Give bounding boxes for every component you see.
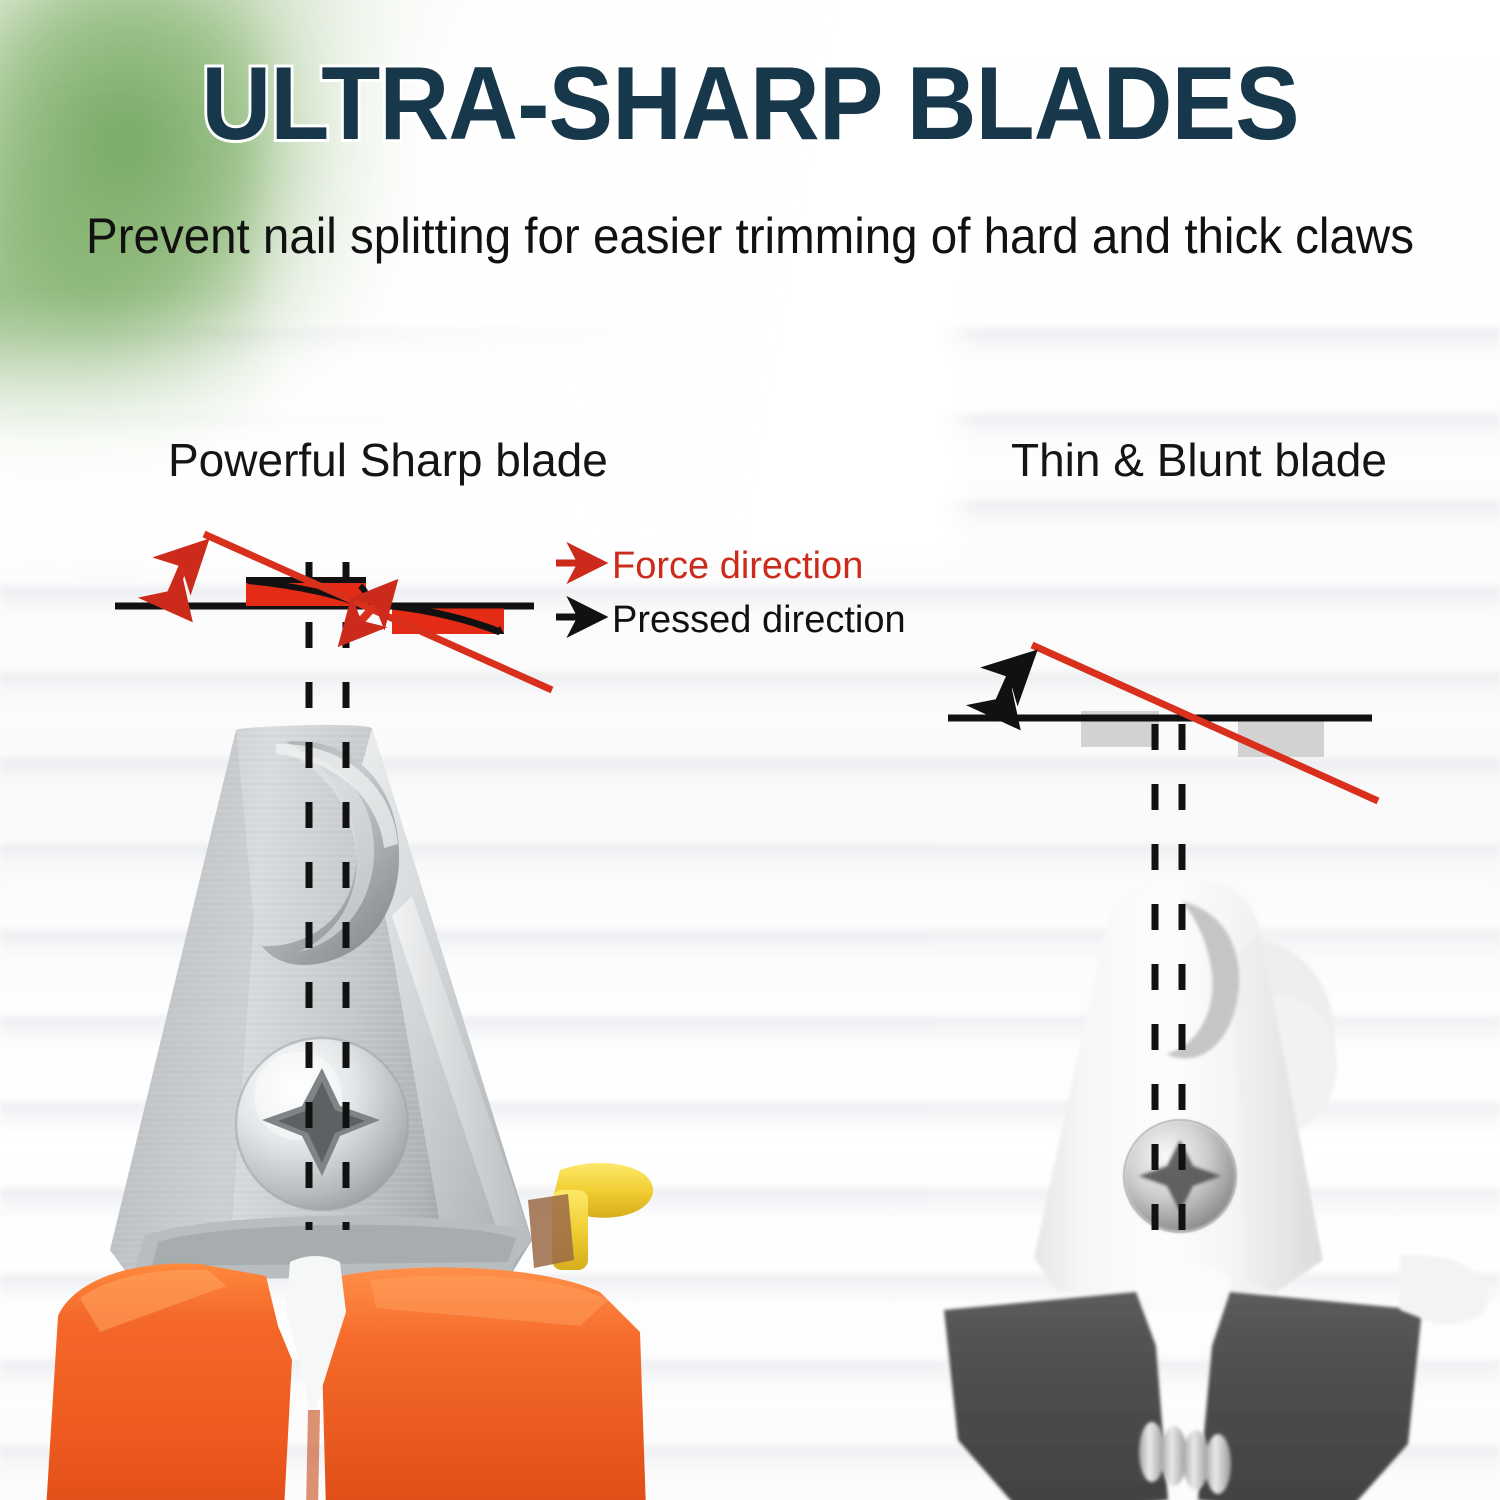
page-subtitle: Prevent nail splitting for easier trimmi… [38,206,1463,266]
diagram-left [115,534,552,1230]
infographic-canvas: Force direction Pressed direction ULTRA-… [0,0,1500,1500]
legend: Force direction Pressed direction [556,545,906,641]
caption-blunt-blade: Thin & Blunt blade [1011,433,1387,487]
page-title: ULTRA-SHARP BLADES [53,52,1448,156]
block-lower-right-gray [1238,721,1324,757]
legend-label-force: Force direction [612,545,863,587]
diagram-right [948,645,1378,1230]
legend-label-pressed: Pressed direction [612,599,906,641]
angle-curved-arrow-right [1005,657,1030,722]
wedge-lower-right [392,606,504,634]
caption-sharp-blade: Powerful Sharp blade [168,433,608,487]
